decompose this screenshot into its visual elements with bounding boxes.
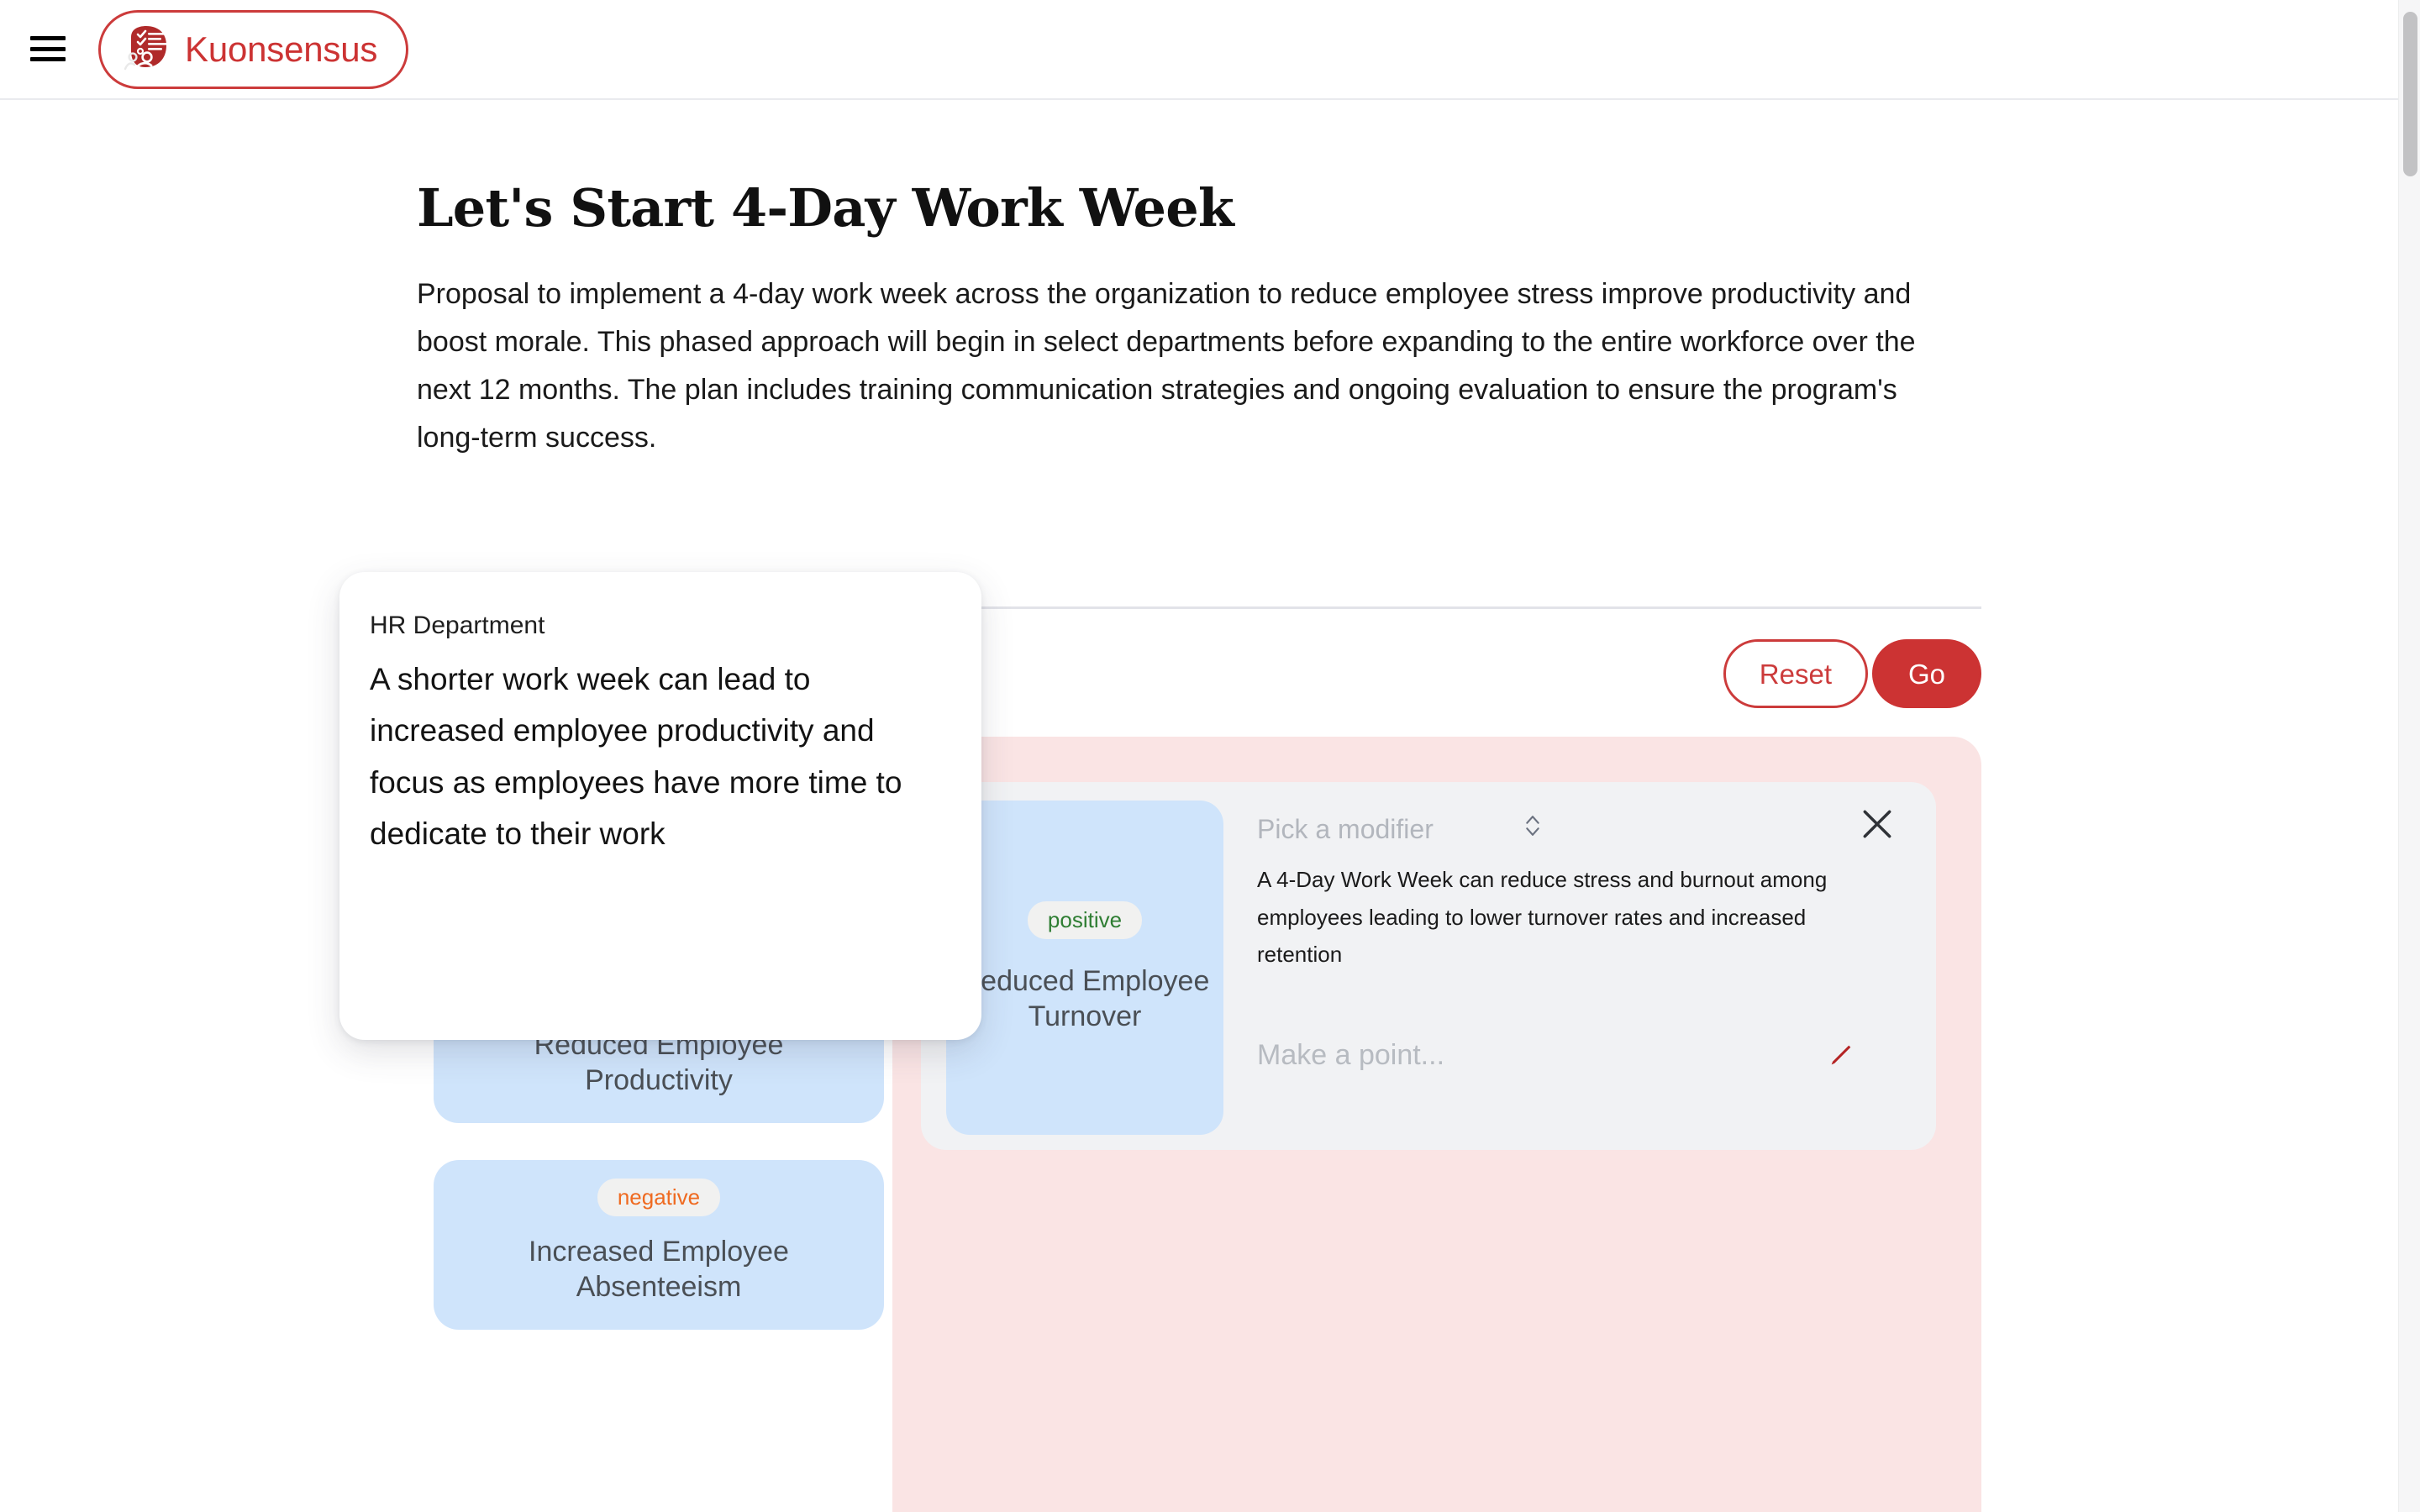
vertical-scrollbar[interactable] bbox=[2398, 0, 2420, 1512]
hamburger-bar bbox=[30, 36, 66, 40]
top-navigation-bar: Kuonsensus bbox=[0, 0, 2420, 100]
document-content: Let's Start 4-Day Work Week Proposal to … bbox=[0, 181, 2405, 462]
status-badge: positive bbox=[1028, 901, 1142, 939]
selected-idea-title: Reduced Employee Turnover bbox=[946, 964, 1223, 1034]
scrollbar-thumb[interactable] bbox=[2403, 12, 2417, 176]
list-item[interactable]: negative Increased Employee Absenteeism bbox=[434, 1160, 884, 1330]
make-a-point-input[interactable]: Make a point... bbox=[1257, 1039, 1827, 1072]
idea-detail-text: A 4-Day Work Week can reduce stress and … bbox=[1257, 861, 1862, 974]
hamburger-bar bbox=[30, 47, 66, 51]
selected-idea-card[interactable]: positive Reduced Employee Turnover bbox=[946, 801, 1223, 1135]
brand-name-label: Kuonsensus bbox=[185, 32, 377, 67]
brand-logo-button[interactable]: Kuonsensus bbox=[98, 10, 408, 89]
idea-detail-column: Pick a modifier A 4-Day Work Week can re… bbox=[1257, 806, 1912, 1084]
tooltip-source-label: HR Department bbox=[370, 609, 951, 642]
idea-title: Increased Employee Absenteeism bbox=[459, 1235, 859, 1305]
status-badge: negative bbox=[597, 1179, 720, 1216]
go-button[interactable]: Go bbox=[1872, 639, 1981, 708]
page-scroll-container: Let's Start 4-Day Work Week Proposal to … bbox=[0, 100, 2405, 1512]
checklist-people-logo-icon bbox=[123, 25, 170, 74]
app-root: Kuonsensus Let's Start 4-Day Work Week P… bbox=[0, 0, 2420, 1512]
pick-modifier-select[interactable]: Pick a modifier bbox=[1257, 814, 1434, 845]
detail-header: Pick a modifier bbox=[1257, 806, 1912, 853]
hamburger-menu-icon[interactable] bbox=[30, 32, 66, 66]
reset-button[interactable]: Reset bbox=[1723, 639, 1868, 708]
expanded-idea-panel: positive Reduced Employee Turnover Pick … bbox=[892, 737, 1981, 1512]
pencil-icon[interactable] bbox=[1827, 1041, 1855, 1069]
hamburger-bar bbox=[30, 57, 66, 61]
page-title: Let's Start 4-Day Work Week bbox=[417, 181, 2013, 237]
idea-detail-card: positive Reduced Employee Turnover Pick … bbox=[921, 782, 1936, 1150]
make-a-point-row: Make a point... bbox=[1257, 1026, 1875, 1084]
idea-tooltip-popover: HR Department A shorter work week can le… bbox=[339, 572, 981, 1040]
chevron-up-down-icon[interactable] bbox=[1524, 811, 1541, 841]
document-description: Proposal to implement a 4-day work week … bbox=[417, 270, 1954, 462]
tooltip-text: A shorter work week can lead to increase… bbox=[370, 654, 950, 860]
close-icon[interactable] bbox=[1859, 806, 1896, 843]
